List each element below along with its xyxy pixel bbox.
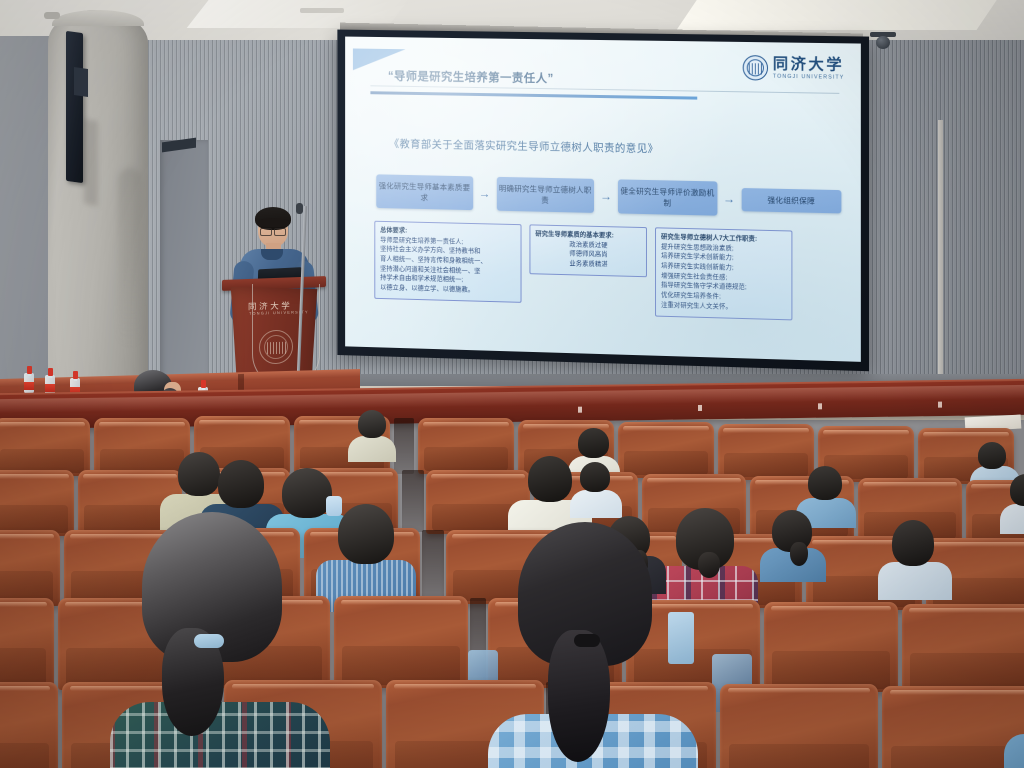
auditorium-seat[interactable]: [0, 530, 60, 606]
university-logo: 同济大学 TONGJI UNIVERSITY: [742, 55, 844, 82]
logo-name-cn: 同济大学: [773, 56, 845, 72]
projection-screen-frame: 同济大学 TONGJI UNIVERSITY “导师是研究生培养第一责任人” 《…: [337, 30, 869, 372]
person-body: [570, 490, 622, 518]
hair-tie: [574, 634, 600, 647]
slide-flow-diagram: 强化研究生导师基本素质要求 → 明确研究生导师立德树人职责 → 健全研究生导师评…: [376, 174, 841, 219]
flow-box-2: 明确研究生导师立德树人职责: [496, 177, 594, 213]
slide-subtitle: 《教育部关于全面落实研究生导师立德树人职责的意见》: [389, 136, 659, 156]
audience-member: [570, 462, 622, 516]
slide-detail-boxes: 总体要求: 导师是研究生培养第一责任人; 坚持社会主义办学方向、坚持教书和 育人…: [374, 221, 843, 322]
person-hair: [528, 456, 572, 502]
bottle-cap: [27, 366, 32, 374]
person-hair: [1010, 474, 1024, 506]
wall-seam: [938, 120, 943, 378]
projected-slide: 同济大学 TONGJI UNIVERSITY “导师是研究生培养第一责任人” 《…: [345, 37, 861, 362]
detail-box-basic-qualities: 研究生导师素质的基本要求: 政治素质过硬 师德师风高尚 业务素质精湛: [529, 224, 647, 277]
flow-arrow-icon: →: [598, 190, 614, 202]
auditorium-seat[interactable]: [0, 470, 74, 536]
slide-title: “导师是研究生培养第一责任人”: [388, 68, 554, 86]
flow-arrow-icon: →: [477, 188, 493, 200]
university-seal-icon: [742, 55, 767, 81]
ceiling-light-slot: [677, 0, 1004, 30]
seating-aisle: [422, 530, 444, 602]
auditorium-seat[interactable]: [882, 686, 1024, 768]
bottle-cap: [73, 371, 78, 379]
bottle-label: [45, 384, 55, 392]
person-hair-bun: [790, 542, 808, 566]
bottle-cap: [201, 380, 206, 388]
auditorium-seat[interactable]: [720, 684, 878, 768]
auditorium-seat[interactable]: [0, 598, 54, 690]
slide-title-underline: [370, 91, 697, 99]
person-hair: [338, 504, 394, 564]
auditorium-seat[interactable]: [334, 596, 468, 688]
speaker-shadow: [84, 119, 98, 206]
audience-member: [348, 410, 396, 460]
flow-box-4: 强化组织保障: [741, 188, 841, 214]
audience-member: [316, 504, 416, 608]
person-hair: [218, 460, 264, 508]
auditorium-seat[interactable]: [764, 602, 898, 692]
person-hair: [892, 520, 934, 566]
wall-loudspeaker-icon: [66, 31, 83, 183]
audience-seating: [0, 404, 1024, 768]
person-body: [348, 436, 396, 462]
presenter-collar: [261, 249, 283, 260]
bottle-label: [24, 382, 34, 390]
speaker-mount: [74, 67, 88, 97]
auditorium-seat[interactable]: [0, 682, 58, 768]
security-camera-icon: [876, 36, 890, 49]
presenter-hair-fringe: [257, 218, 289, 227]
auditorium-seat[interactable]: [902, 604, 1024, 694]
glasses-icon: [260, 228, 286, 234]
flow-arrow-icon: →: [721, 193, 737, 205]
auditorium-seat[interactable]: [418, 418, 514, 474]
audience-member: [878, 520, 952, 596]
person-body: [110, 702, 330, 768]
person-hair: [808, 466, 842, 500]
person-hair: [580, 462, 610, 492]
detail-line: 业务素质精湛: [535, 258, 642, 270]
seating-aisle: [394, 418, 414, 474]
ceiling-vent: [300, 8, 344, 13]
foreground-audience-member-left: [110, 512, 330, 768]
person-hair: [578, 428, 609, 458]
lecture-hall-photo: 同济大学 TONGJI UNIVERSITY “导师是研究生培养第一责任人” 《…: [0, 0, 1024, 768]
flow-box-1: 强化研究生导师基本素质要求: [376, 174, 472, 210]
microphone-icon: [296, 203, 303, 214]
auditorium-seat[interactable]: [618, 422, 714, 478]
audience-member: [1000, 474, 1024, 532]
person-hair: [978, 442, 1006, 469]
detail-box-seven-duties: 研究生导师立德树人7大工作职责: 提升研究生思想政治素质; 培养研究生学术创新能…: [655, 227, 792, 320]
person-body: [878, 562, 952, 600]
logo-name-en: TONGJI UNIVERSITY: [773, 74, 845, 81]
foreground-audience-member-right: [488, 522, 698, 768]
audience-member: [760, 510, 826, 580]
person-body: [1000, 504, 1024, 534]
side-door[interactable]: [160, 140, 208, 390]
auditorium-seat[interactable]: [0, 418, 90, 476]
flow-box-3: 健全研究生导师评价激励机制: [618, 179, 717, 216]
detail-line: 注重对研究生人文关怀。: [661, 300, 787, 313]
detail-box-overall-requirements: 总体要求: 导师是研究生培养第一责任人; 坚持社会主义办学方向、坚持教书和 育人…: [374, 221, 521, 303]
water-bottle[interactable]: [24, 366, 34, 394]
person-hair-bun: [698, 552, 720, 578]
column-shading: [118, 168, 142, 348]
hair-tie: [194, 634, 224, 648]
person-hair: [358, 410, 386, 438]
bottle-cap: [48, 368, 53, 376]
speaker-bracket: [44, 12, 60, 19]
